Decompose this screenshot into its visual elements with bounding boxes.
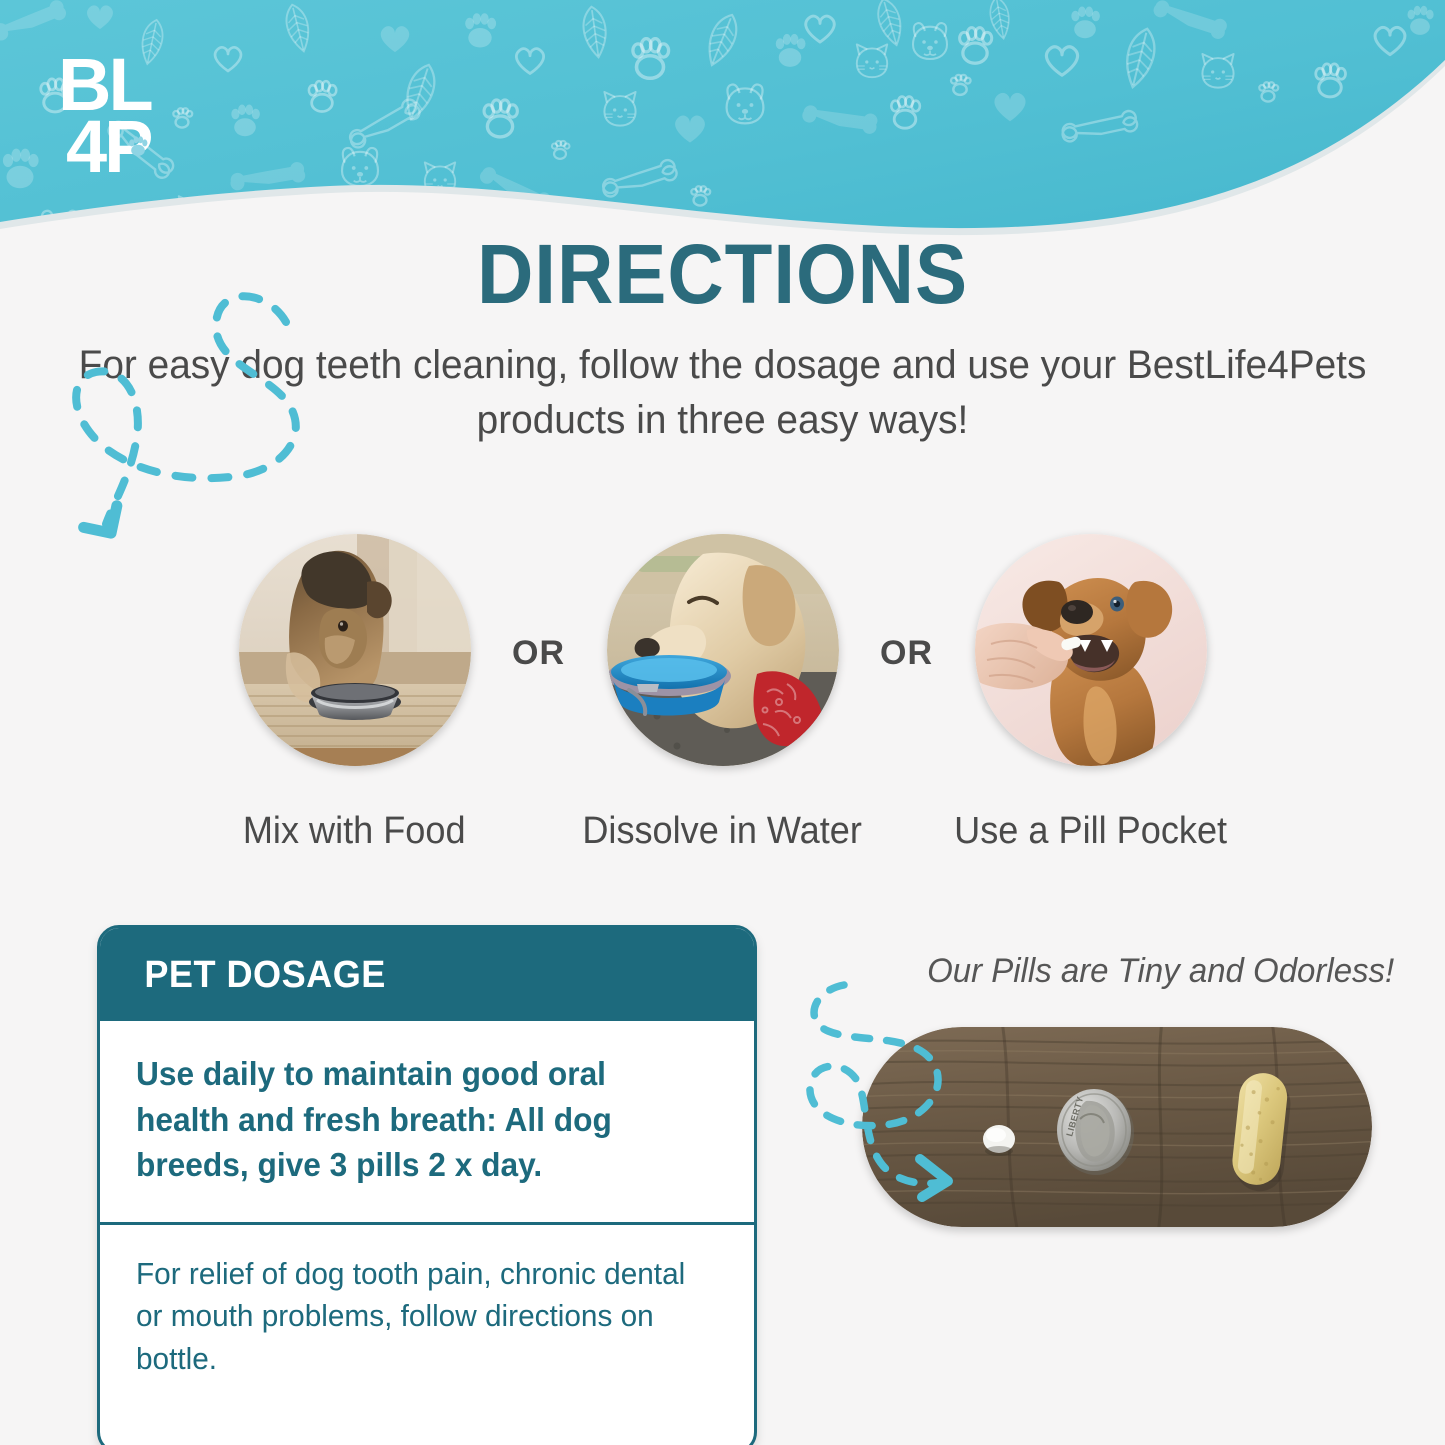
- arrow-head: [84, 500, 117, 533]
- pill-size-comparison-photo: LIBERTY: [862, 1027, 1372, 1227]
- or-separator-1: OR: [489, 634, 589, 673]
- pet-dosage-title: PET DOSAGE: [144, 954, 385, 997]
- method-item-mix-with-food[interactable]: Mix with Food: [221, 534, 489, 853]
- pet-dosage-card: PET DOSAGE Use daily to maintain good or…: [97, 925, 757, 1445]
- pet-dosage-primary-section: Use daily to maintain good oral health a…: [100, 1021, 754, 1225]
- methods-row: Mix with Food OR: [0, 534, 1445, 853]
- method-label: Dissolve in Water: [583, 810, 863, 853]
- brand-logo[interactable]: BL 4P: [58, 48, 173, 178]
- title-block: DIRECTIONS For easy dog teeth cleaning, …: [0, 232, 1445, 448]
- or-separator-2: OR: [857, 634, 957, 673]
- method-label: Use a Pill Pocket: [954, 810, 1227, 853]
- method-label: Mix with Food: [243, 810, 466, 853]
- pills-caption: Our Pills are Tiny and Odorless!: [857, 952, 1400, 991]
- pet-dosage-secondary-text: For relief of dog tooth pain, chronic de…: [136, 1253, 695, 1381]
- pet-dosage-secondary-section: For relief of dog tooth pain, chronic de…: [100, 1225, 754, 1445]
- method-item-dissolve-in-water[interactable]: Dissolve in Water: [589, 534, 857, 853]
- page-title: DIRECTIONS: [51, 232, 1395, 316]
- method-item-use-a-pill-pocket[interactable]: Use a Pill Pocket: [957, 534, 1225, 853]
- brand-logo-line2: 4P: [66, 105, 151, 178]
- infographic-page: BL 4P DIRECTIONS For easy dog teeth clea…: [0, 0, 1445, 1445]
- dog-drinking-water-photo: [607, 534, 839, 766]
- pills-panel: Our Pills are Tiny and Odorless!: [840, 952, 1400, 1227]
- pet-dosage-header: PET DOSAGE: [100, 928, 754, 1021]
- hand-feeding-pill-photo: [975, 534, 1207, 766]
- dog-eating-from-bowl-photo: [239, 534, 471, 766]
- pet-dosage-primary-text: Use daily to maintain good oral health a…: [136, 1051, 695, 1188]
- page-subtitle: For easy dog teeth cleaning, follow the …: [22, 338, 1424, 448]
